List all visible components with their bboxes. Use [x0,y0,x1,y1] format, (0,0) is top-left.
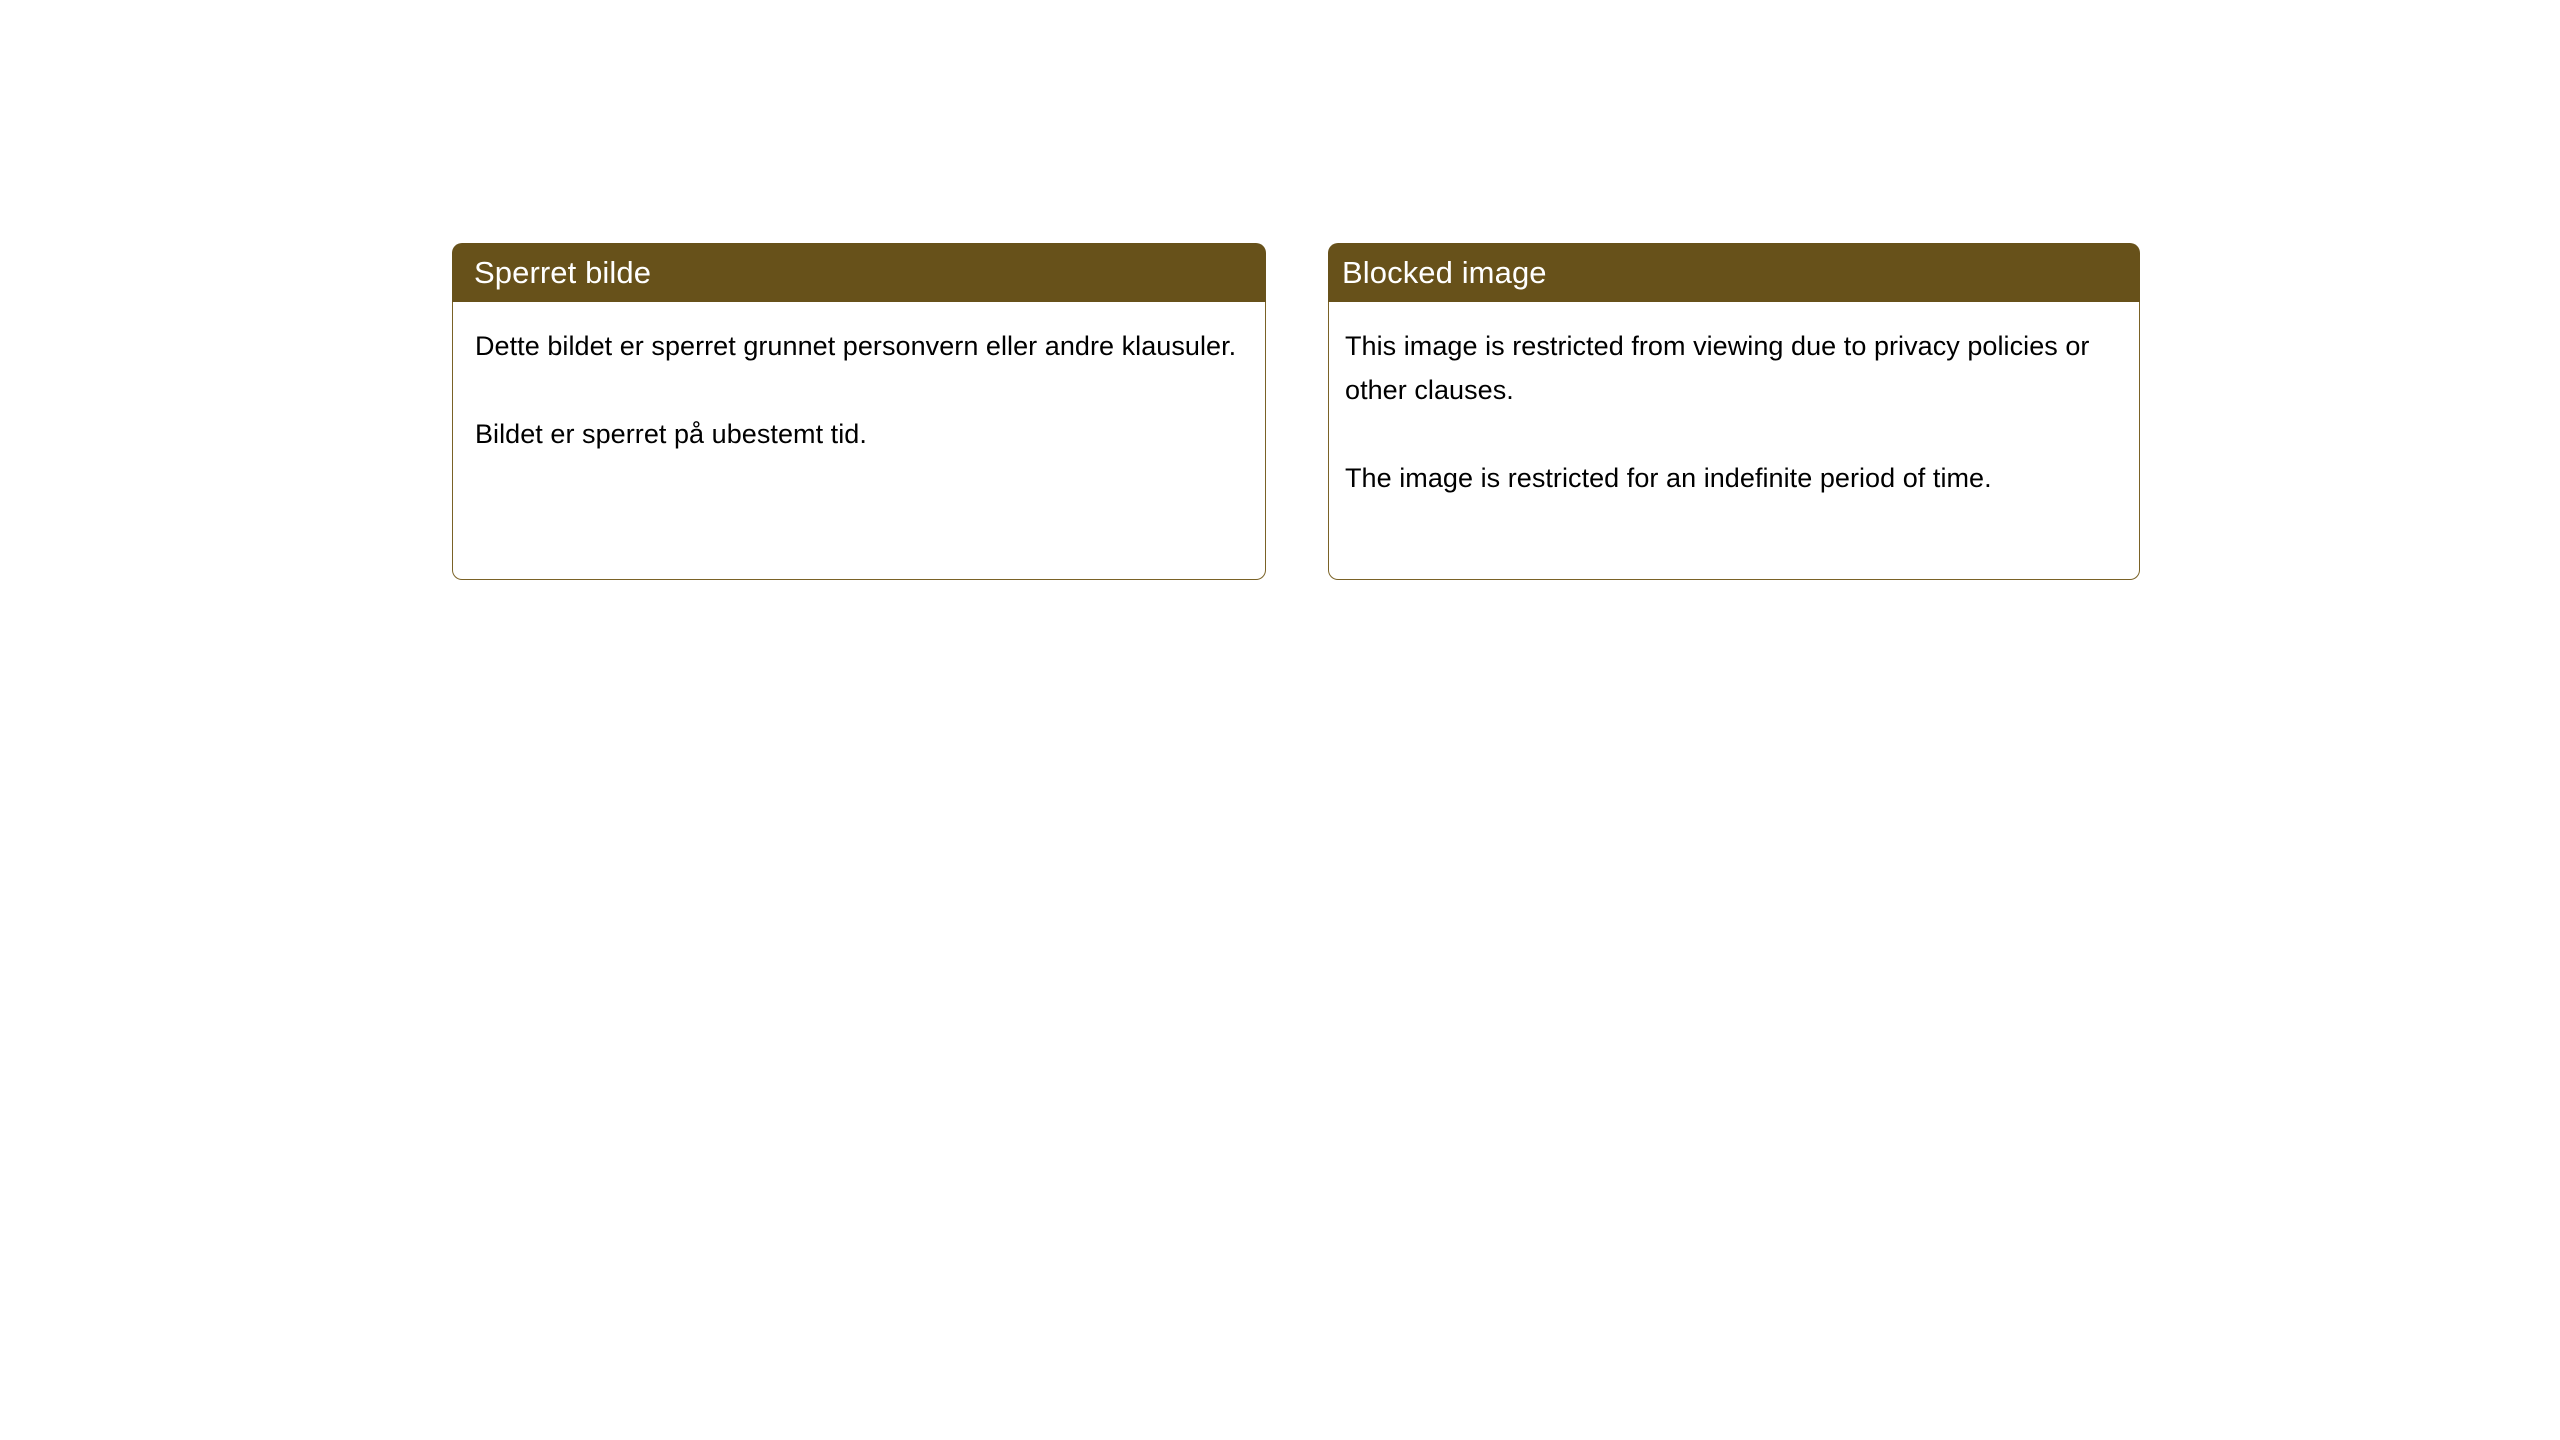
card-body-inner-english: This image is restricted from viewing du… [1329,302,2139,500]
card-title-english: Blocked image [1328,257,1547,290]
card-body-english: This image is restricted from viewing du… [1328,302,2140,580]
notice-paragraph-duration-english: The image is restricted for an indefinit… [1345,456,2115,500]
blocked-image-card-norwegian: Sperret bilde Dette bildet er sperret gr… [452,243,1266,580]
card-title-norwegian: Sperret bilde [452,257,651,290]
card-header-norwegian: Sperret bilde [452,243,1266,303]
blocked-image-card-english: Blocked image This image is restricted f… [1328,243,2140,580]
notice-paragraph-reason-english: This image is restricted from viewing du… [1345,324,2115,412]
notice-paragraph-duration-norwegian: Bildet er sperret på ubestemt tid. [475,412,1241,456]
blocked-image-notice-area: Sperret bilde Dette bildet er sperret gr… [0,0,2560,1440]
card-body-norwegian: Dette bildet er sperret grunnet personve… [452,302,1266,580]
notice-paragraph-reason-norwegian: Dette bildet er sperret grunnet personve… [475,324,1241,368]
card-header-english: Blocked image [1328,243,2140,303]
card-body-inner-norwegian: Dette bildet er sperret grunnet personve… [453,302,1265,456]
